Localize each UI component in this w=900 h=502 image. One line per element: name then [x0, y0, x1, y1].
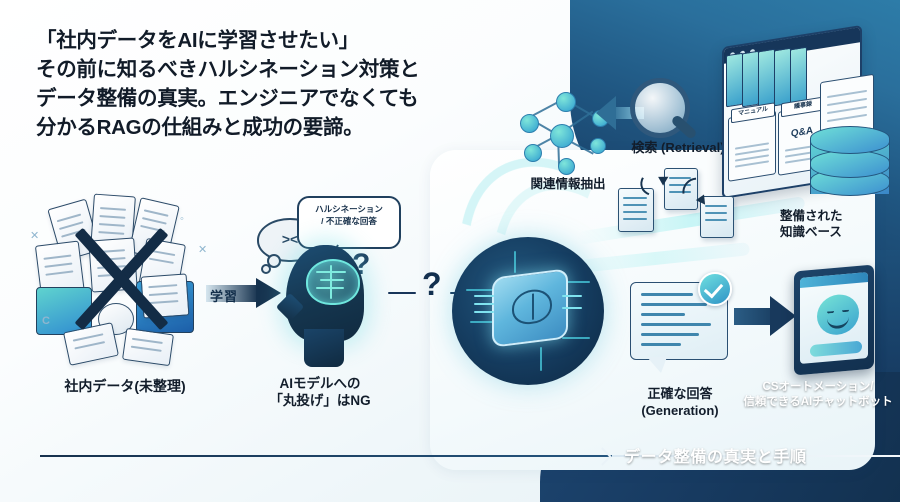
headline-line-4: 分かるRAGの仕組みと成功の要諦。 [36, 113, 466, 142]
hallucination-line-1: ハルシネーション [299, 203, 399, 215]
ai-head-caption: AIモデルへの 「丸投げ」はNG [250, 375, 390, 410]
cross-out-x-icon [58, 215, 183, 340]
infographic-canvas: 「社内データをAIに学習させたい」 その前に知るべきハルシネーション対策と デー… [0, 0, 900, 502]
book-icon [790, 47, 807, 108]
result-arrow [734, 296, 796, 336]
messy-data-caption: 社内データ(未整理) [30, 378, 220, 396]
ai-head-caption-line-1: AIモデルへの [250, 375, 390, 392]
headline-line-3: データ整備の真実。エンジニアでなくても [36, 84, 466, 113]
book-icon [726, 53, 743, 108]
kb-card-manual: マニュアル [728, 110, 776, 182]
kb-caption-line-1: 整備された [780, 208, 900, 224]
training-arrow-label: 学習 [210, 286, 238, 305]
book-icon [742, 51, 759, 108]
ai-chip-hub [452, 237, 604, 385]
database-icon [810, 124, 888, 208]
cpu-chip-icon [492, 268, 568, 347]
book-icon [758, 49, 775, 108]
knowledge-base-caption: 整備された 知識ベース [780, 208, 900, 240]
brain-icon [306, 259, 360, 305]
chatbot-tablet [794, 265, 874, 376]
headline-line-2: その前に知るべきハルシネーション対策と [36, 55, 466, 84]
connector-question-mark: ? [422, 266, 442, 303]
generation-caption-line-2: (Generation) [620, 403, 740, 420]
chatbot-caption-line-1: CSオートメーション/ [736, 380, 900, 395]
network-caption: 関連情報抽出 [508, 176, 628, 192]
smiley-face-icon [817, 293, 859, 337]
chatbot-caption: CSオートメーション/ 信頼できるAIチャットボット [736, 380, 900, 409]
ai-head-illustration [272, 245, 382, 370]
kb-caption-line-2: 知識ベース [780, 224, 900, 240]
headline-line-1: 「社内データをAIに学習させたい」 [36, 26, 466, 55]
hallucination-line-2: / 不正確な回答 [299, 215, 399, 227]
training-arrow: 学習 [206, 278, 282, 308]
hallucination-bubble: ハルシネーション / 不正確な回答 [297, 196, 401, 249]
knowledge-base-illustration: マニュアル 議事録 Q&A [712, 22, 892, 232]
footer-arrow-icon [596, 448, 612, 464]
book-icon [774, 48, 791, 107]
footer-rule-left [40, 455, 616, 457]
chatbot-caption-line-2: 信頼できるAIチャットボット [736, 395, 900, 410]
footer-tagline: データ整備の真実と手順 [624, 443, 807, 467]
ai-head-caption-line-2: 「丸投げ」はNG [250, 392, 390, 409]
page-title: 「社内データをAIに学習させたい」 その前に知るべきハルシネーション対策と デー… [36, 26, 466, 142]
generation-caption: 正確な回答 (Generation) [620, 386, 740, 419]
check-badge-icon [698, 272, 732, 306]
generation-caption-line-1: 正確な回答 [620, 386, 740, 403]
